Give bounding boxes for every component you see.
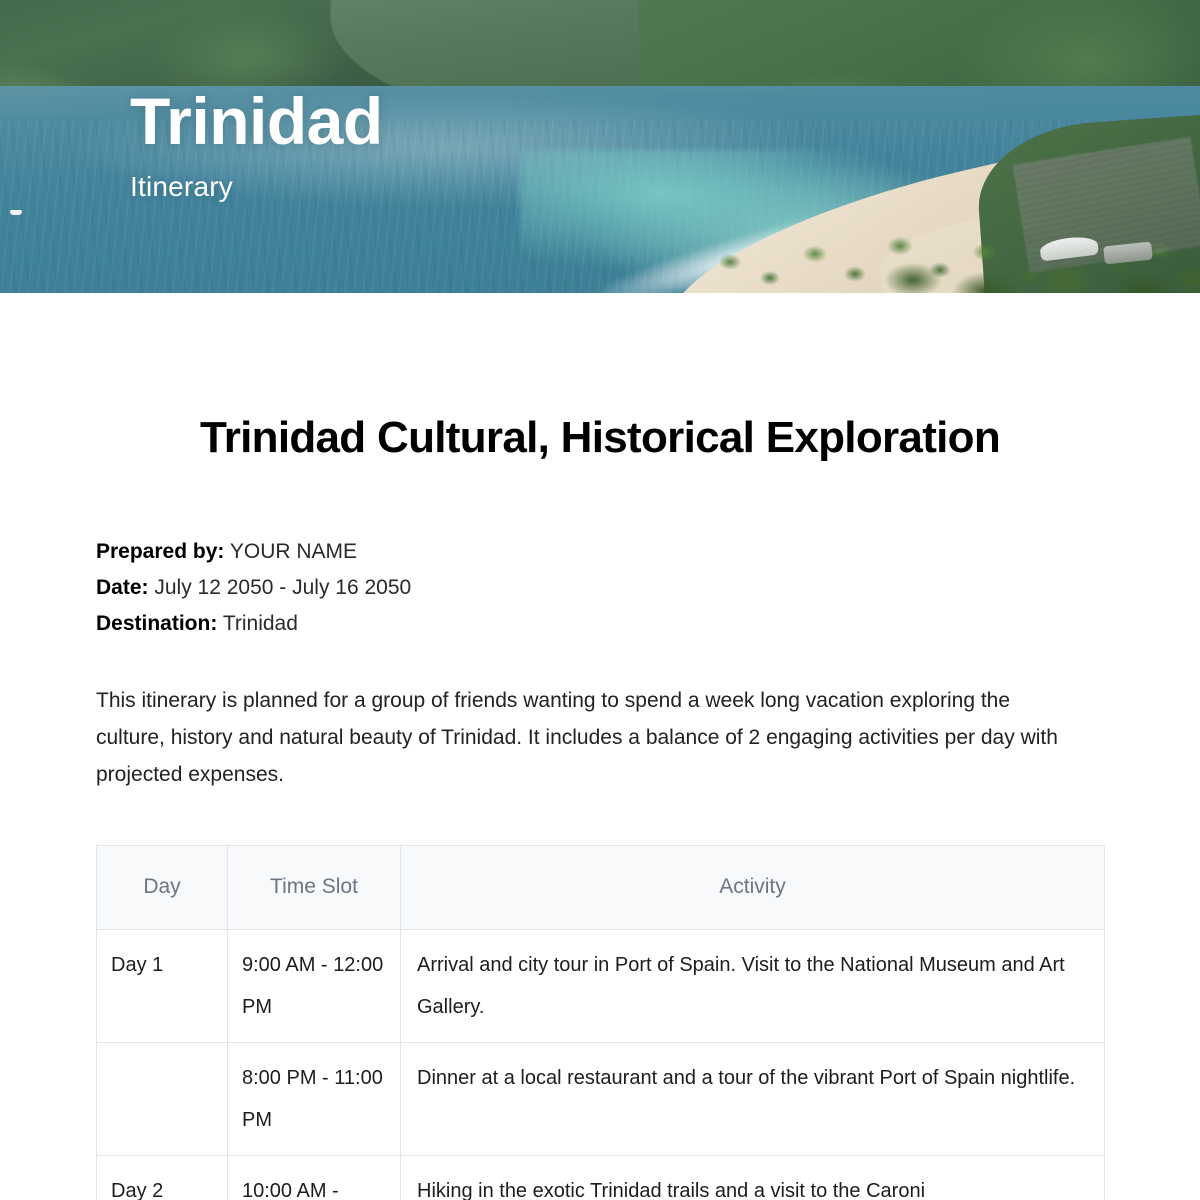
meta-value-prepared-by: YOUR NAME — [230, 540, 357, 563]
cell-time-slot: 9:00 AM - 12:00 PM — [228, 929, 401, 1042]
meta-row-prepared-by: Prepared by: YOUR NAME — [96, 534, 1104, 570]
cell-day: Day 1 — [97, 929, 228, 1042]
document-title: Trinidad Cultural, Historical Exploratio… — [96, 413, 1104, 464]
meta-value-destination: Trinidad — [223, 612, 298, 635]
column-header-day: Day — [97, 845, 228, 929]
document-meta-block: Prepared by: YOUR NAME Date: July 12 205… — [96, 534, 1104, 642]
table-header-row: Day Time Slot Activity — [97, 845, 1105, 929]
itinerary-table-wrapper: Day Time Slot Activity Day 1 9:00 AM - 1… — [96, 845, 1104, 1200]
hero-subtitle: Itinerary — [130, 171, 383, 203]
cell-day: Day 2 — [97, 1155, 228, 1200]
document-intro-paragraph: This itinerary is planned for a group of… — [96, 682, 1081, 793]
column-header-time-slot: Time Slot — [228, 845, 401, 929]
itinerary-document-page: Trinidad Itinerary Trinidad Cultural, Hi… — [0, 0, 1200, 1200]
meta-row-date: Date: July 12 2050 - July 16 2050 — [96, 570, 1104, 606]
document-content: Trinidad Cultural, Historical Exploratio… — [0, 413, 1200, 1200]
table-row: Day 2 10:00 AM - Hiking in the exotic Tr… — [97, 1155, 1105, 1200]
cell-activity: Arrival and city tour in Port of Spain. … — [401, 929, 1105, 1042]
meta-row-destination: Destination: Trinidad — [96, 606, 1104, 642]
hero-title: Trinidad — [130, 88, 383, 155]
itinerary-table-head: Day Time Slot Activity — [97, 845, 1105, 929]
cell-time-slot: 10:00 AM - — [228, 1155, 401, 1200]
table-row: 8:00 PM - 11:00 PM Dinner at a local res… — [97, 1042, 1105, 1155]
itinerary-table: Day Time Slot Activity Day 1 9:00 AM - 1… — [96, 845, 1105, 1200]
photo-small-boat — [10, 210, 22, 215]
table-row: Day 1 9:00 AM - 12:00 PM Arrival and cit… — [97, 929, 1105, 1042]
cell-time-slot: 8:00 PM - 11:00 PM — [228, 1042, 401, 1155]
cell-activity: Hiking in the exotic Trinidad trails and… — [401, 1155, 1105, 1200]
hero-banner: Trinidad Itinerary — [0, 0, 1200, 293]
meta-label-prepared-by: Prepared by: — [96, 540, 224, 563]
meta-value-date: July 12 2050 - July 16 2050 — [154, 576, 411, 599]
meta-label-date: Date: — [96, 576, 149, 599]
itinerary-table-body: Day 1 9:00 AM - 12:00 PM Arrival and cit… — [97, 929, 1105, 1200]
cell-day — [97, 1042, 228, 1155]
photo-foreground-foliage — [880, 244, 1200, 293]
meta-label-destination: Destination: — [96, 612, 217, 635]
column-header-activity: Activity — [401, 845, 1105, 929]
cell-activity: Dinner at a local restaurant and a tour … — [401, 1042, 1105, 1155]
hero-text-block: Trinidad Itinerary — [130, 88, 383, 203]
